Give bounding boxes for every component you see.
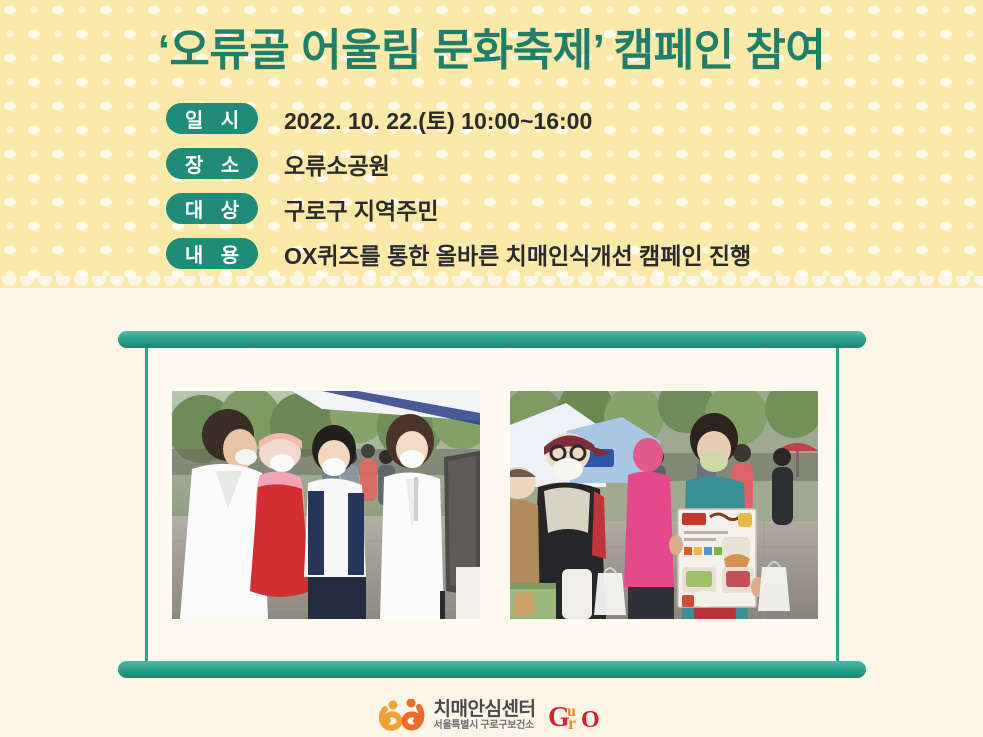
- poster-root: ‘오류골 어울림 문화축제’ 캠페인 참여 일 시 2022. 10. 22.(…: [0, 0, 983, 737]
- info-row-content: 내 용 OX퀴즈를 통한 올바른 치매인식개선 캠페인 진행: [166, 231, 926, 276]
- page-title: ‘오류골 어울림 문화축제’ 캠페인 참여: [0, 14, 983, 78]
- event-photo-right: [510, 391, 818, 619]
- footer-logo: 치매안심센터 서울특별시 구로구보건소 G u r O: [0, 694, 983, 737]
- info-badge-place: 장 소: [166, 148, 258, 179]
- banner-rail-right: [836, 340, 839, 665]
- logo-title: 치매안심센터: [434, 700, 536, 720]
- band-scalloped-edge: [0, 276, 983, 292]
- banner-rod-bottom: [118, 661, 866, 678]
- logo-subtitle: 서울특별시 구로구보건소: [434, 719, 536, 732]
- guro-logo-icon: G u r O: [548, 700, 604, 732]
- info-badge-content: 내 용: [166, 238, 258, 269]
- event-photo-right-image: [510, 391, 818, 619]
- banner-rod-top: [118, 331, 866, 348]
- info-list: 일 시 2022. 10. 22.(토) 10:00~16:00 장 소 오류소…: [166, 96, 926, 276]
- svg-text:r: r: [568, 713, 576, 732]
- info-value-date: 2022. 10. 22.(토) 10:00~16:00: [284, 102, 592, 136]
- event-photo-left: [172, 391, 480, 619]
- info-row-date: 일 시 2022. 10. 22.(토) 10:00~16:00: [166, 96, 926, 141]
- svg-text:O: O: [581, 707, 600, 732]
- info-badge-audience: 대 상: [166, 193, 258, 224]
- banner-rail-left: [145, 340, 148, 665]
- info-value-place: 오류소공원: [284, 147, 390, 181]
- event-photo-left-image: [172, 391, 480, 619]
- info-value-content: OX퀴즈를 통한 올바른 치매인식개선 캠페인 진행: [284, 237, 751, 271]
- logo-text-block: 치매안심센터 서울특별시 구로구보건소: [434, 700, 536, 733]
- info-row-audience: 대 상 구로구 지역주민: [166, 186, 926, 231]
- info-value-audience: 구로구 지역주민: [284, 192, 439, 226]
- info-row-place: 장 소 오류소공원: [166, 141, 926, 186]
- dementia-center-mark-icon: [379, 699, 425, 733]
- info-badge-date: 일 시: [166, 103, 258, 134]
